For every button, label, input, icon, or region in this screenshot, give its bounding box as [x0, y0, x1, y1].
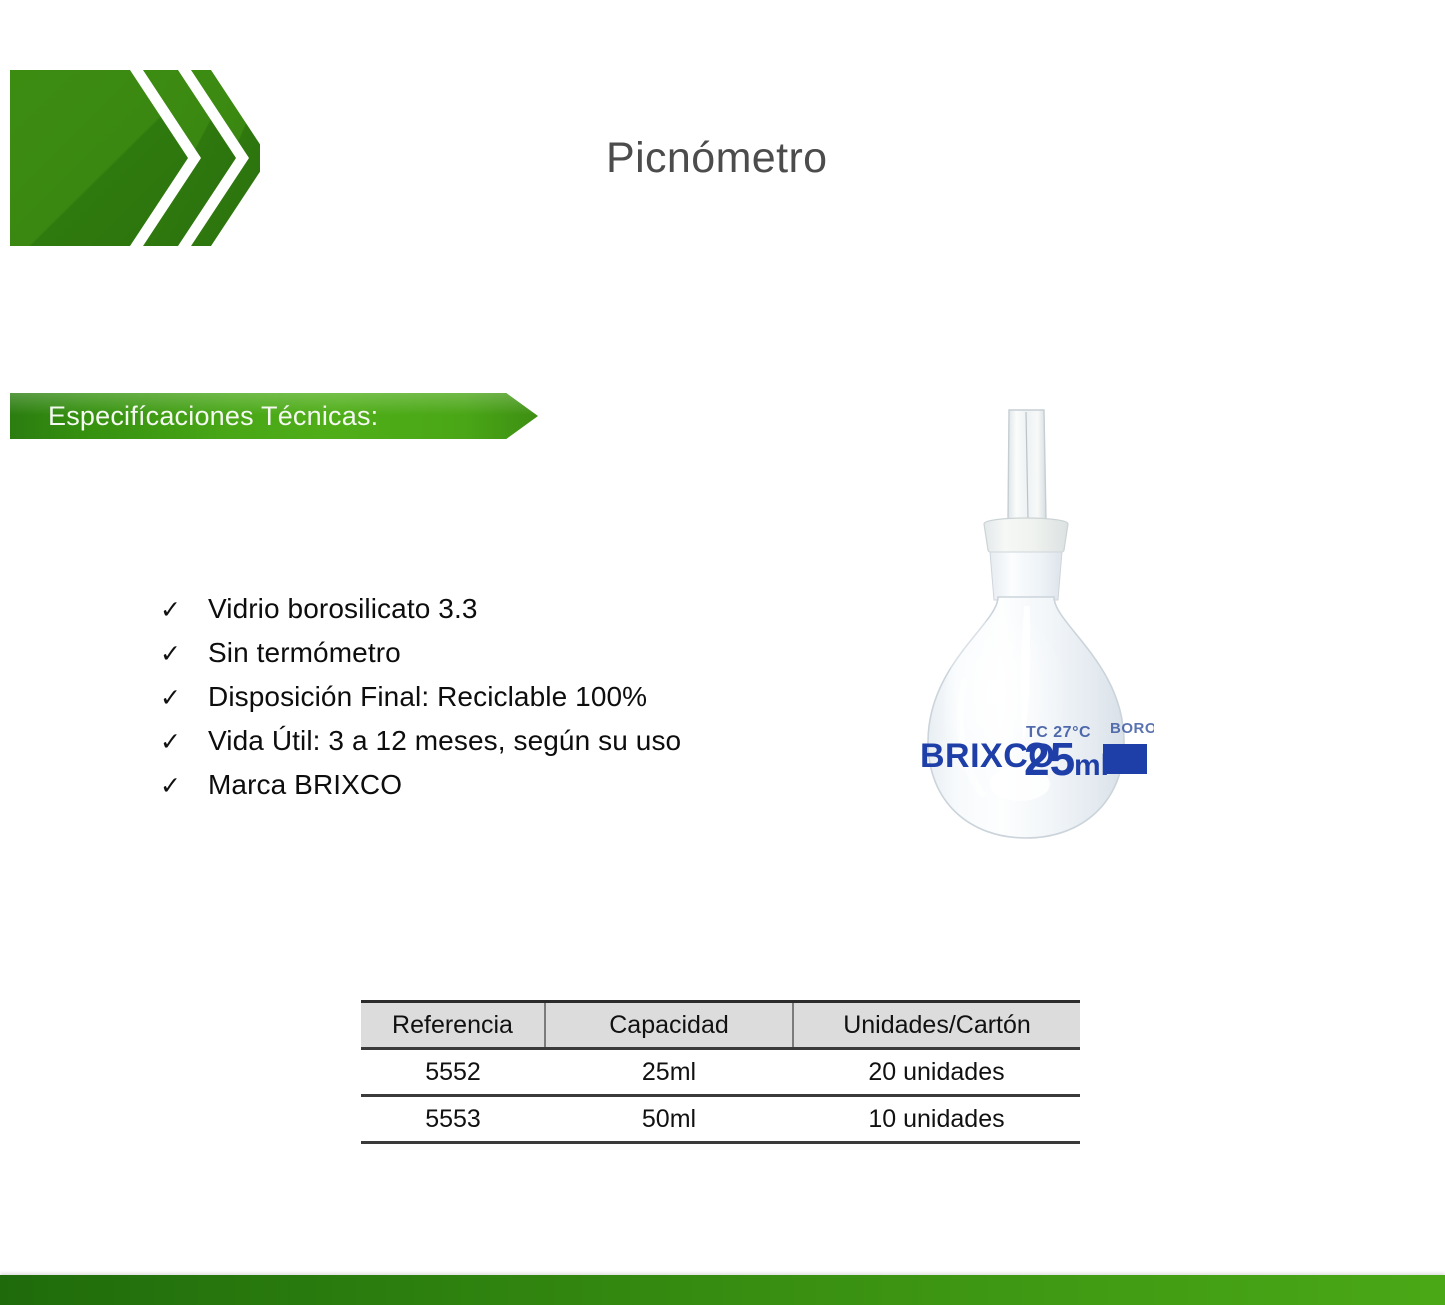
feature-label: Sin termómetro: [208, 631, 401, 675]
feature-label: Disposición Final: Reciclable 100%: [208, 675, 647, 719]
product-material-label: BOROSILICA: [1110, 720, 1154, 737]
table-row: 5552 25ml 20 unidades: [361, 1049, 1080, 1096]
cell-referencia: 5552: [361, 1049, 545, 1096]
list-item: ✓ Marca BRIXCO: [160, 763, 860, 807]
features-list: ✓ Vidrio borosilicato 3.3 ✓ Sin termómet…: [160, 587, 860, 807]
footer-green-bar: [0, 1275, 1445, 1305]
table-row: 5553 50ml 10 unidades: [361, 1096, 1080, 1143]
pycnometer-stopper: [984, 518, 1068, 556]
check-icon: ✓: [160, 720, 208, 764]
list-item: ✓ Disposición Final: Reciclable 100%: [160, 675, 860, 719]
product-volume-unit: ml: [1074, 749, 1109, 782]
cell-capacidad: 50ml: [545, 1096, 793, 1143]
list-item: ✓ Vida Útil: 3 a 12 meses, según su uso: [160, 719, 860, 763]
check-icon: ✓: [160, 588, 208, 632]
column-header-unidades-carton: Unidades/Cartón: [793, 1002, 1080, 1049]
specifications-banner: Especifícaciones Técnicas:: [10, 393, 538, 439]
brand-logo: [10, 70, 260, 246]
feature-label: Vida Útil: 3 a 12 meses, según su uso: [208, 719, 681, 763]
check-icon: ✓: [160, 676, 208, 720]
product-image-pycnometer: BRIXCO TC 27°C BOROSILICA 25 ml: [898, 392, 1154, 852]
feature-label: Marca BRIXCO: [208, 763, 402, 807]
cell-unidades: 10 unidades: [793, 1096, 1080, 1143]
page-title: Picnómetro: [606, 134, 827, 183]
list-item: ✓ Sin termómetro: [160, 631, 860, 675]
list-item: ✓ Vidrio borosilicato 3.3: [160, 587, 860, 631]
product-volume-band: [1103, 744, 1147, 774]
cell-capacidad: 25ml: [545, 1049, 793, 1096]
table-header-row: Referencia Capacidad Unidades/Cartón: [361, 1002, 1080, 1049]
cell-unidades: 20 unidades: [793, 1049, 1080, 1096]
column-header-referencia: Referencia: [361, 1002, 545, 1049]
check-icon: ✓: [160, 764, 208, 808]
specifications-banner-label: Especifícaciones Técnicas:: [48, 393, 378, 439]
cell-referencia: 5553: [361, 1096, 545, 1143]
feature-label: Vidrio borosilicato 3.3: [208, 587, 478, 631]
specifications-table: Referencia Capacidad Unidades/Cartón 555…: [361, 1000, 1080, 1144]
product-volume-number: 25: [1024, 733, 1075, 785]
check-icon: ✓: [160, 632, 208, 676]
column-header-capacidad: Capacidad: [545, 1002, 793, 1049]
